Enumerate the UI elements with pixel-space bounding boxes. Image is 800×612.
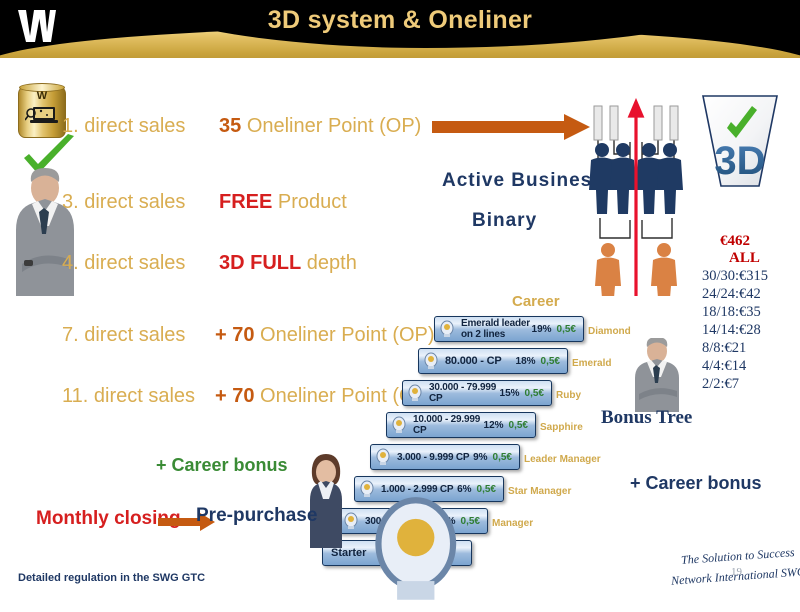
career-step-sapphire[interactable]: 10.000 - 29.999 CP 12% 0,5€	[386, 412, 536, 438]
career-rank-diamond: Diamond	[588, 326, 631, 337]
middle-row-2: 3D FULL depth	[219, 253, 357, 273]
coin-w-mark: W	[19, 90, 65, 102]
career-heading: Career	[512, 294, 560, 309]
trophy-badge-icon	[439, 320, 455, 339]
middle-row-1-accent: FREE	[219, 191, 272, 213]
middle-row-3: + 70 Oneliner Point (OP)	[215, 325, 435, 345]
price-item-0: 30/30:€315	[702, 268, 768, 285]
middle-row-0: 35 Oneliner Point (OP)	[219, 116, 421, 136]
trophy-badge-icon	[391, 416, 407, 435]
trophy-badge-icon	[423, 352, 439, 371]
middle-row-3-accent: + 70	[215, 324, 254, 346]
binary-title-line2: Binary	[472, 211, 537, 230]
career-step-leader-manager-pct: 9%	[473, 452, 492, 463]
career-step-diamond-pct: 19%	[532, 324, 557, 335]
career-step-diamond[interactable]: Emerald leader on 2 lines 19% 0,5€	[434, 316, 584, 342]
logo-3d: 3D	[697, 92, 783, 190]
career-step-diamond-eur: 0,5€	[557, 324, 583, 335]
signature-line1: The Solution to Success	[681, 545, 795, 568]
price-item-2: 18/18:€35	[702, 304, 761, 321]
career-step-star-manager-pct: 6%	[457, 484, 476, 495]
page-number: 19	[731, 566, 742, 578]
businesswoman-photo	[300, 452, 352, 548]
career-step-sapphire-pct: 12%	[484, 420, 509, 431]
career-step-ruby[interactable]: 30.000 - 79.999 CP 15% 0,5€	[402, 380, 552, 406]
career-step-star-manager-eur: 0,5€	[477, 484, 503, 495]
career-step-sapphire-range: 10.000 - 29.999 CP	[407, 414, 484, 436]
businessman-photo	[8, 168, 80, 296]
price-item-4: 8/8:€21	[702, 340, 746, 357]
career-starter-label: Starter	[323, 547, 366, 559]
gold-coin-icon: W	[18, 86, 66, 138]
career-step-emerald-eur: 0,5€	[541, 356, 567, 367]
binary-tree-diagram	[578, 98, 694, 296]
trophy-badge-icon	[366, 494, 466, 612]
footnote: Detailed regulation in the SWG GTC	[18, 573, 205, 584]
middle-row-2-rest: depth	[307, 252, 357, 274]
middle-row-3-rest: Oneliner Point (OP)	[260, 324, 435, 346]
price-item-6: 2/2:€7	[702, 376, 739, 393]
middle-row-0-accent: 35	[219, 115, 241, 137]
logo-3d-text: 3D	[714, 139, 765, 183]
career-step-ruby-pct: 15%	[500, 388, 525, 399]
trophy-badge-icon	[375, 448, 391, 467]
career-rank-emerald: Emerald	[572, 358, 611, 369]
career-step-star-manager-range: 1.000 - 2.999 CP	[375, 484, 457, 495]
businessman-photo	[630, 338, 684, 412]
bonus-tree-label: Bonus Tree	[601, 408, 692, 427]
career-rank-star-manager: Star Manager	[508, 486, 571, 497]
career-rank-manager: Manager	[492, 518, 533, 529]
slide-header: 3D system & Oneliner	[0, 0, 800, 58]
career-step-leader-manager-range: 3.000 - 9.999 CP	[391, 452, 473, 463]
career-step-leader-manager[interactable]: 3.000 - 9.999 CP 9% 0,5€	[370, 444, 520, 470]
page-title: 3D system & Oneliner	[0, 6, 800, 35]
left-row-1-label: 3. direct sales	[62, 192, 185, 212]
middle-row-2-accent: 3D FULL	[219, 252, 301, 274]
price-total: €462	[720, 233, 750, 250]
career-rank-sapphire: Sapphire	[540, 422, 583, 433]
career-step-ruby-eur: 0,5€	[525, 388, 551, 399]
price-all-label: ALL	[729, 250, 760, 267]
middle-row-0-rest: Oneliner Point (OP)	[247, 115, 422, 137]
price-item-1: 24/24:€42	[702, 286, 761, 303]
career-step-sapphire-eur: 0,5€	[509, 420, 535, 431]
career-step-emerald[interactable]: 80.000 - CP 18% 0,5€	[418, 348, 568, 374]
career-step-diamond-range: Emerald leader on 2 lines	[455, 318, 532, 340]
orange-right-arrow-icon	[432, 112, 592, 142]
price-item-5: 4/4:€14	[702, 358, 746, 375]
pre-purchase-label: Pre-purchase	[196, 506, 317, 525]
slide-canvas: 3D system & Oneliner W 1. direct sales 3…	[0, 0, 800, 600]
left-row-3-label: 7. direct sales	[62, 325, 185, 345]
career-step-emerald-range: 80.000 - CP	[439, 355, 516, 367]
career-bonus-left: + Career bonus	[156, 456, 288, 474]
career-rank-ruby: Ruby	[556, 390, 581, 401]
middle-row-1: FREE Product	[219, 192, 347, 212]
trophy-badge-icon	[407, 384, 423, 403]
career-step-ruby-range: 30.000 - 79.999 CP	[423, 382, 500, 404]
left-row-4-label: 11. direct sales	[62, 386, 195, 406]
career-step-emerald-pct: 18%	[516, 356, 541, 367]
career-rank-leader-manager: Leader Manager	[524, 454, 601, 465]
binary-center-line	[630, 102, 642, 296]
left-row-0-label: 1. direct sales	[62, 116, 185, 136]
price-item-3: 14/14:€28	[702, 322, 761, 339]
career-bonus-right: + Career bonus	[630, 474, 762, 492]
middle-row-4-accent: + 70	[215, 385, 254, 407]
career-step-leader-manager-eur: 0,5€	[493, 452, 519, 463]
middle-row-1-rest: Product	[278, 191, 347, 213]
laptop-icon	[25, 104, 59, 126]
left-row-2-label: 4. direct sales	[62, 253, 185, 273]
